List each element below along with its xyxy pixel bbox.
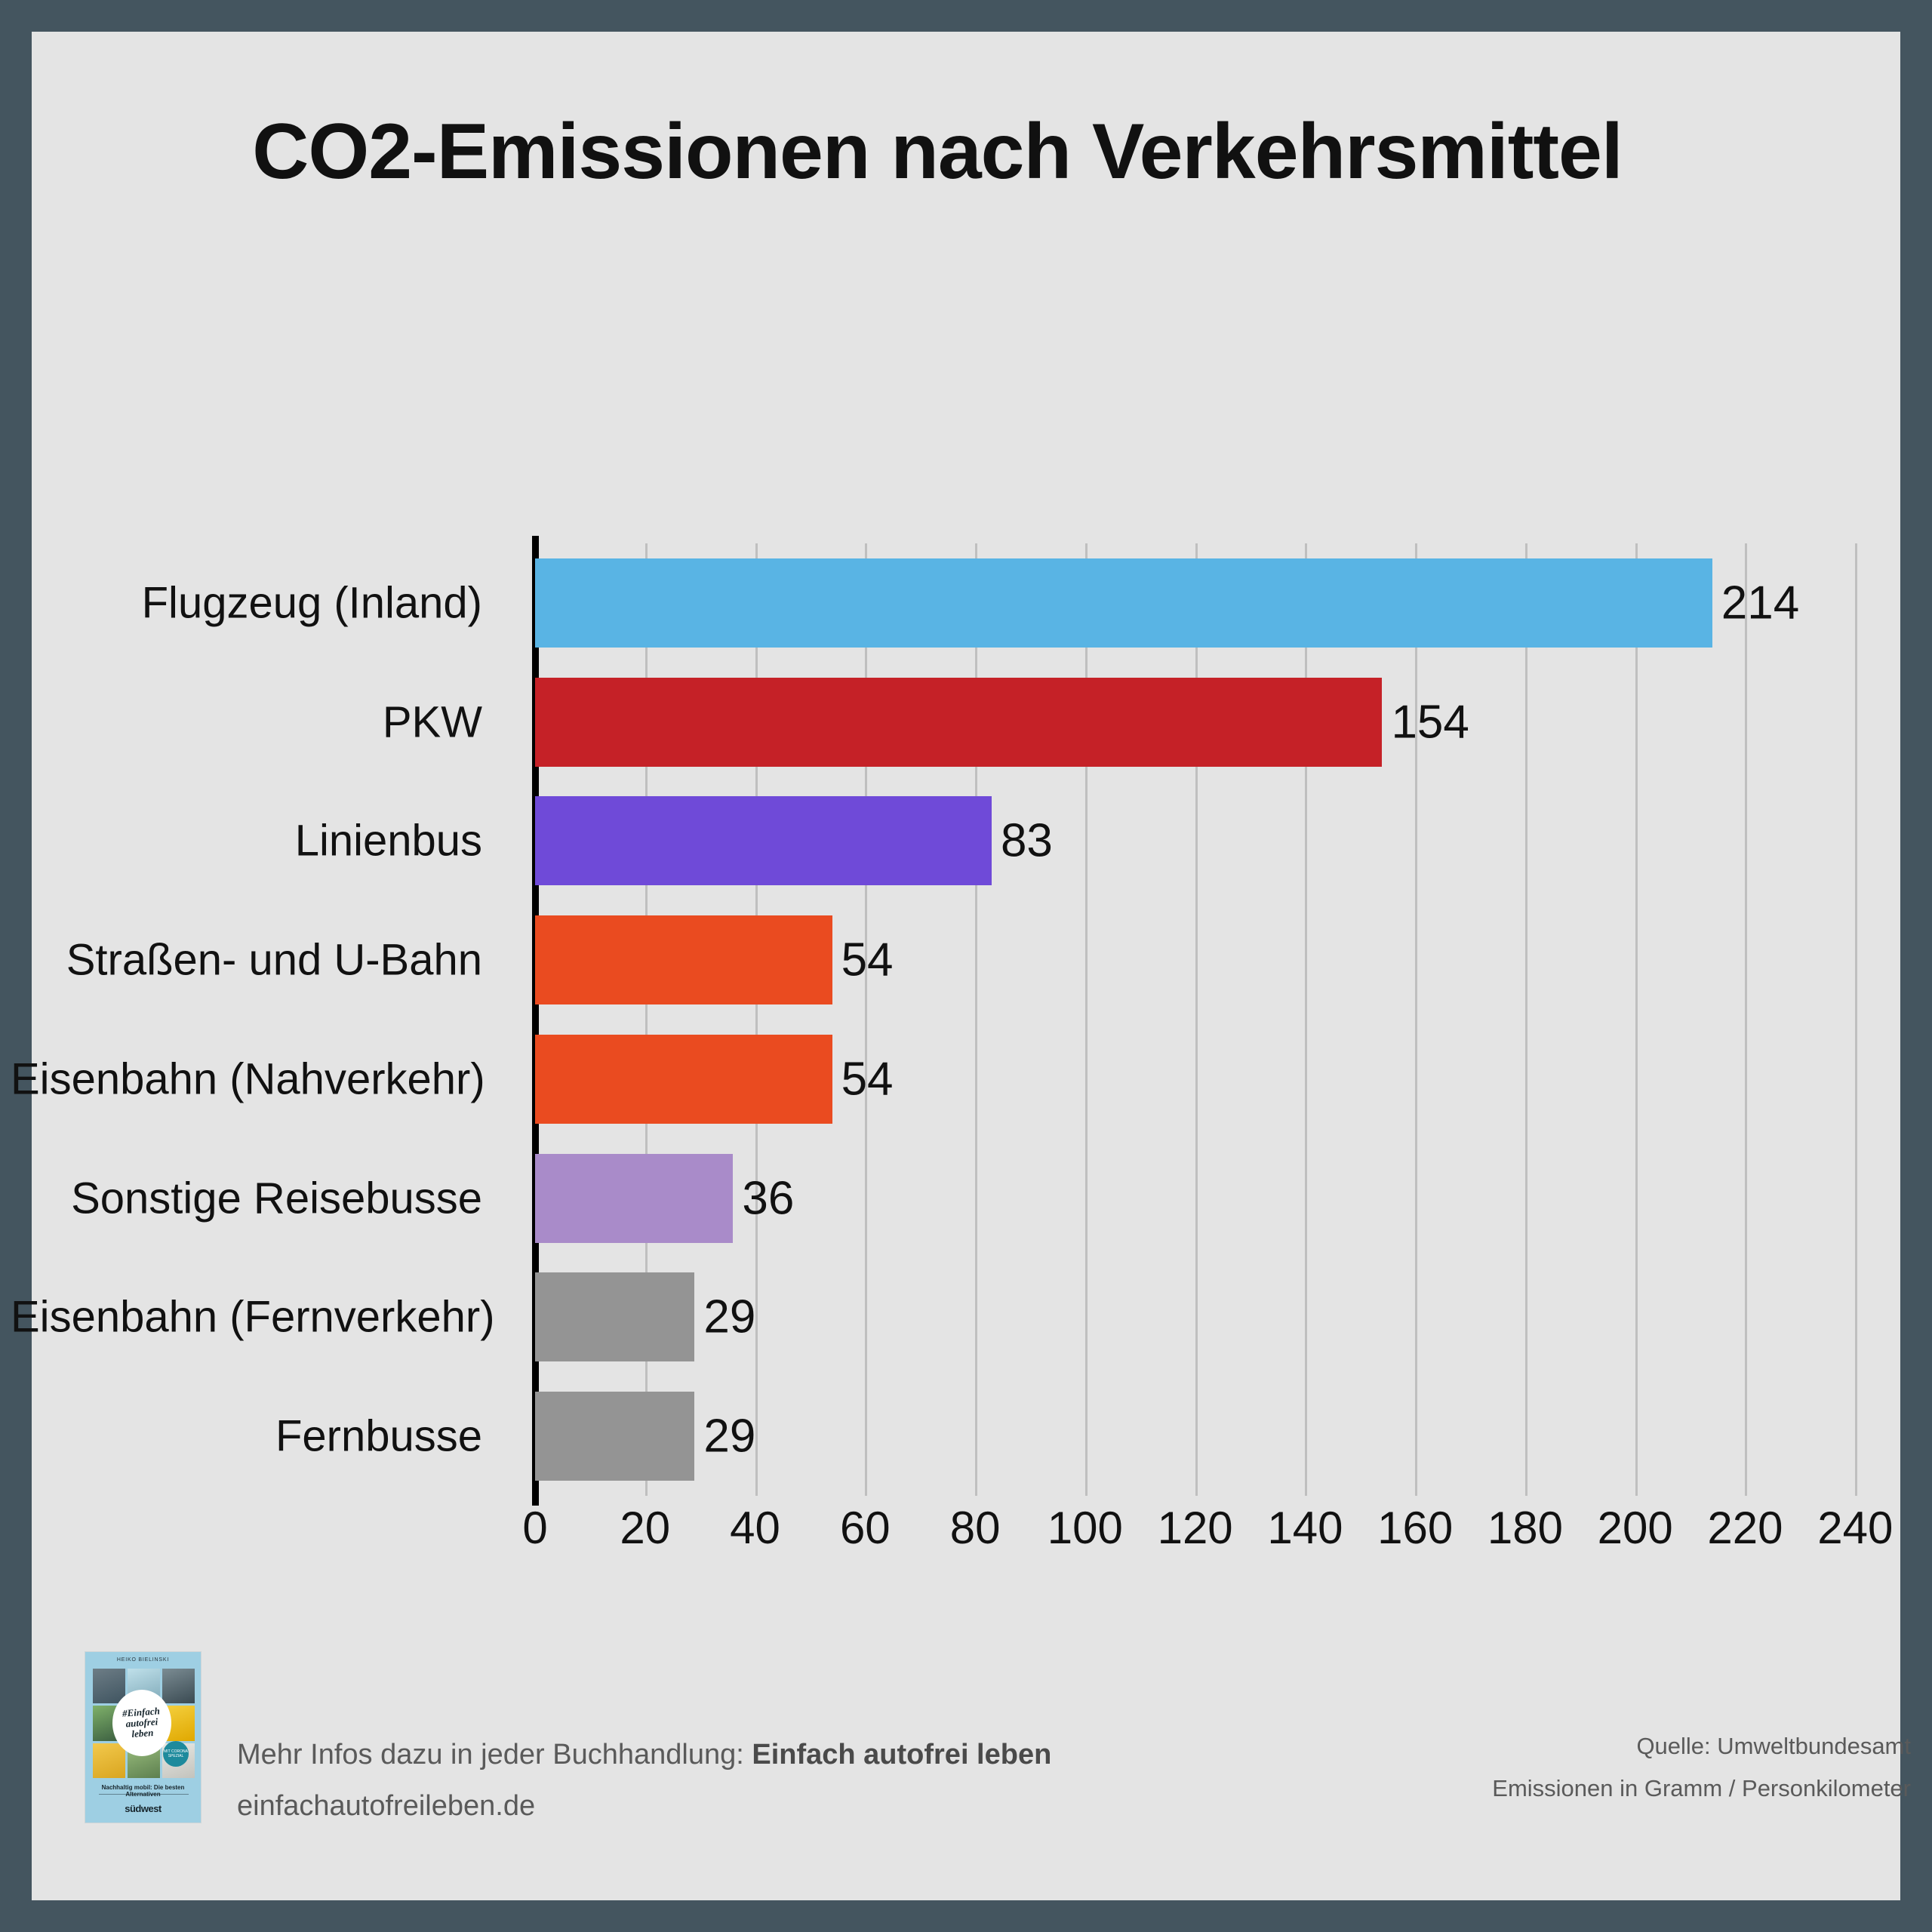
chart-canvas: CO2-Emissionen nach Verkehrsmittel Flugz… [32,32,1900,1900]
promo-prefix: Mehr Infos dazu in jeder Buchhandlung: [237,1739,752,1770]
x-axis-tick-label: 40 [730,1502,780,1554]
y-axis-category-label: Straßen- und U-Bahn [11,935,503,986]
bar[interactable] [535,915,832,1004]
x-axis-tick-label: 140 [1267,1502,1343,1554]
book-cover-badge: MIT CORONA SPEZIAL [163,1741,189,1767]
y-axis-category-label: Flugzeug (Inland) [11,577,503,628]
bar[interactable] [535,1154,733,1243]
x-axis-tick-label: 200 [1598,1502,1673,1554]
bar-value-label: 29 [694,1410,755,1463]
x-axis-tick-label: 80 [950,1502,1001,1554]
bar-value-label: 214 [1712,576,1799,629]
bar-row: 36 [535,1154,1888,1243]
source-note: Quelle: Umweltbundesamt [1636,1733,1911,1760]
bar[interactable] [535,678,1382,767]
book-title-line-3: leben [131,1727,154,1740]
bar-row: 83 [535,796,1888,885]
y-axis-category-label: Sonstige Reisebusse [11,1173,503,1223]
y-axis-labels: Flugzeug (Inland)PKWLinienbusStraßen- un… [32,543,503,1496]
y-axis-category-label: PKW [11,697,503,747]
bar-row: 29 [535,1392,1888,1481]
bar-value-label: 83 [992,814,1053,868]
y-axis-category-label: Eisenbahn (Nahverkehr) [11,1054,503,1104]
bar-row: 54 [535,915,1888,1004]
y-axis-category-label: Fernbusse [11,1411,503,1462]
x-axis-tick-label: 120 [1158,1502,1233,1554]
unit-note: Emissionen in Gramm / Personkilometer [1492,1775,1911,1802]
promo-text: Mehr Infos dazu in jeder Buchhandlung: E… [237,1739,1051,1771]
bars-plot-area: 214154835454362929 [535,543,1888,1496]
x-axis-tick-label: 20 [620,1502,670,1554]
book-cover-publisher: südwest [85,1803,201,1814]
book-cover-author: HEIKO BIELINSKI [85,1657,201,1663]
x-axis-tick-label: 60 [840,1502,891,1554]
x-axis-tick-label: 180 [1487,1502,1563,1554]
bar-row: 214 [535,558,1888,648]
x-axis-tick-label: 100 [1048,1502,1123,1554]
book-cover-subtitle: Nachhaltig mobil: Die besten Alternative… [85,1784,201,1798]
x-axis-ticks: 020406080100120140160180200220240 [535,1502,1888,1570]
x-axis-tick-label: 220 [1707,1502,1783,1554]
x-axis-tick-label: 240 [1817,1502,1893,1554]
y-axis-category-label: Linienbus [11,816,503,866]
y-axis-category-label: Eisenbahn (Fernverkehr) [11,1292,503,1343]
bar[interactable] [535,796,992,885]
poster-frame: CO2-Emissionen nach Verkehrsmittel Flugz… [0,0,1932,1932]
x-axis-tick-label: 160 [1377,1502,1453,1554]
bar-value-label: 154 [1382,695,1469,749]
promo-url[interactable]: einfachautofreileben.de [237,1790,535,1823]
bar-row: 54 [535,1035,1888,1124]
book-cover-image: HEIKO BIELINSKI #Einfach autofrei [85,1651,202,1823]
bar-value-label: 54 [832,1052,894,1106]
book-cover-title: #Einfach autofrei leben [122,1706,162,1740]
bar[interactable] [535,1272,694,1361]
bar-row: 29 [535,1272,1888,1361]
book-cover-photo [93,1743,125,1778]
footer: HEIKO BIELINSKI #Einfach autofrei [63,1642,1932,1869]
promo-book-title: Einfach autofrei leben [752,1739,1051,1770]
bar[interactable] [535,558,1712,648]
book-cover-photo [162,1669,195,1703]
book-cover-photo [93,1669,125,1703]
bar[interactable] [535,1392,694,1481]
book-cover-divider [99,1794,189,1795]
bar-row: 154 [535,678,1888,767]
bar[interactable] [535,1035,832,1124]
book-cover-title-bubble: #Einfach autofrei leben [112,1690,171,1756]
bar-value-label: 36 [733,1171,794,1225]
page-title: CO2-Emissionen nach Verkehrsmittel [32,107,1843,197]
bar-value-label: 29 [694,1291,755,1344]
bar-value-label: 54 [832,934,894,987]
x-axis-tick-label: 0 [522,1502,547,1554]
